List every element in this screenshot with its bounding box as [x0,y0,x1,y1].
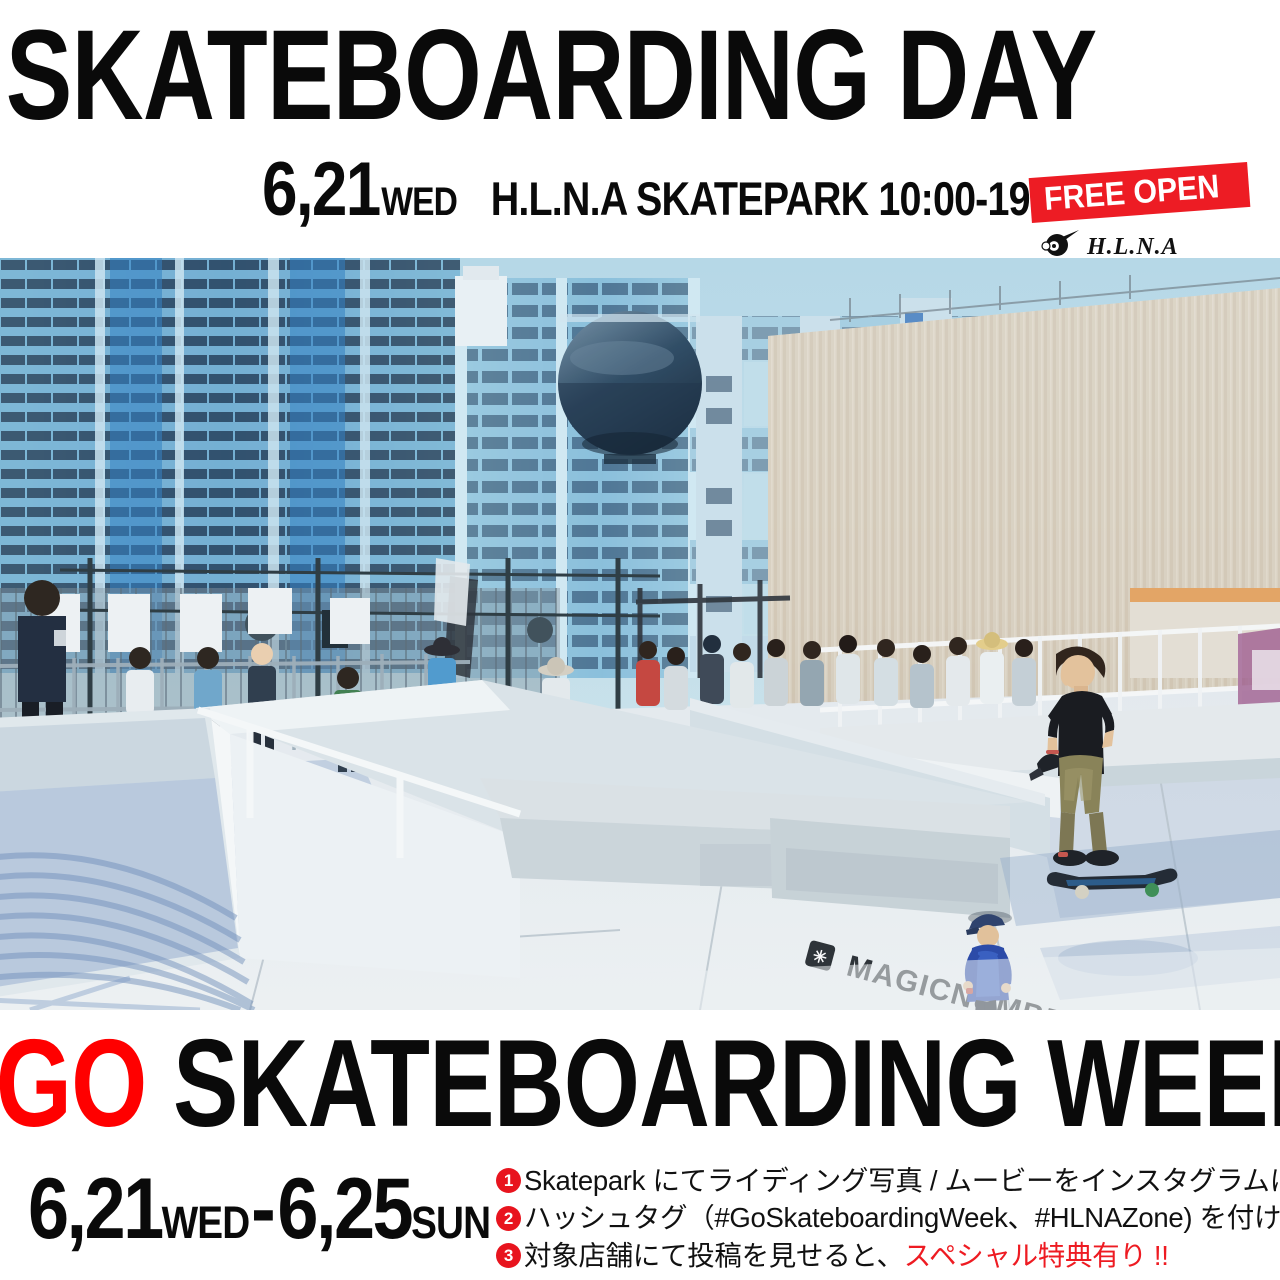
footer-title-rest-word: SKATEBOARDING WEEK [147,1015,1280,1153]
range-end-date: 6,25 [277,1166,411,1252]
eyeball-comet-icon [1042,230,1079,256]
poster-footer: #GO SKATEBOARDING WEEK 6,21 WED - 6,25 S… [0,1010,1280,1280]
step-text: 対象店舗にて投稿を見せると、 [524,1237,904,1274]
list-item: 1 Skatepark にてライディング写真 / ムービーをインスタグラムにアッ… [496,1162,1266,1199]
step-number-badge: 1 [496,1168,521,1193]
poster-header: GO SKATEBOARDING DAY 6,21 WED H.L.N.A SK… [0,0,1280,258]
range-dash: - [251,1166,276,1252]
instruction-list: 1 Skatepark にてライディング写真 / ムービーをインスタグラムにアッ… [496,1162,1266,1274]
special-offer-highlight: スペシャル特典有り !! [904,1237,1169,1274]
footer-bottom-row: 6,21 WED - 6,25 SUN 1 Skatepark にてライディング… [0,1158,1280,1280]
range-start-date: 6,21 [28,1166,162,1252]
free-open-label: FREE OPEN [1043,169,1220,215]
event-venue-and-hours: H.L.N.A SKATEPARK 10:00-19:00 [491,175,1085,222]
step-text: Skatepark にてライディング写真 / ムービーをインスタグラムにアップ [524,1162,1280,1199]
list-item: 2 ハッシュタグ（#GoSkateboardingWeek、#HLNAZone)… [496,1199,1266,1236]
step-number-badge: 3 [496,1243,521,1268]
event-day-of-week: WED [381,182,457,222]
title-rest-word: SKATEBOARDING DAY [0,4,1096,147]
range-end-day: SUN [411,1200,490,1245]
footer-title-go-word: #GO [0,1015,147,1153]
step-number-badge: 2 [496,1206,521,1231]
date-range: 6,21 WED - 6,25 SUN [28,1166,490,1252]
event-date: 6,21 [262,152,380,228]
range-start-day: WED [162,1200,250,1245]
list-item: 3 対象店舗にて投稿を見せると、スペシャル特典有り !! [496,1237,1266,1274]
footer-title: #GO SKATEBOARDING WEEK [0,1022,1280,1146]
step-text: ハッシュタグ（#GoSkateboardingWeek、#HLNAZone) を… [524,1199,1280,1236]
poster-root: GO SKATEBOARDING DAY 6,21 WED H.L.N.A SK… [0,0,1280,1280]
event-photo: ✳ MAGICNUMBER ® REEF [0,258,1280,1010]
